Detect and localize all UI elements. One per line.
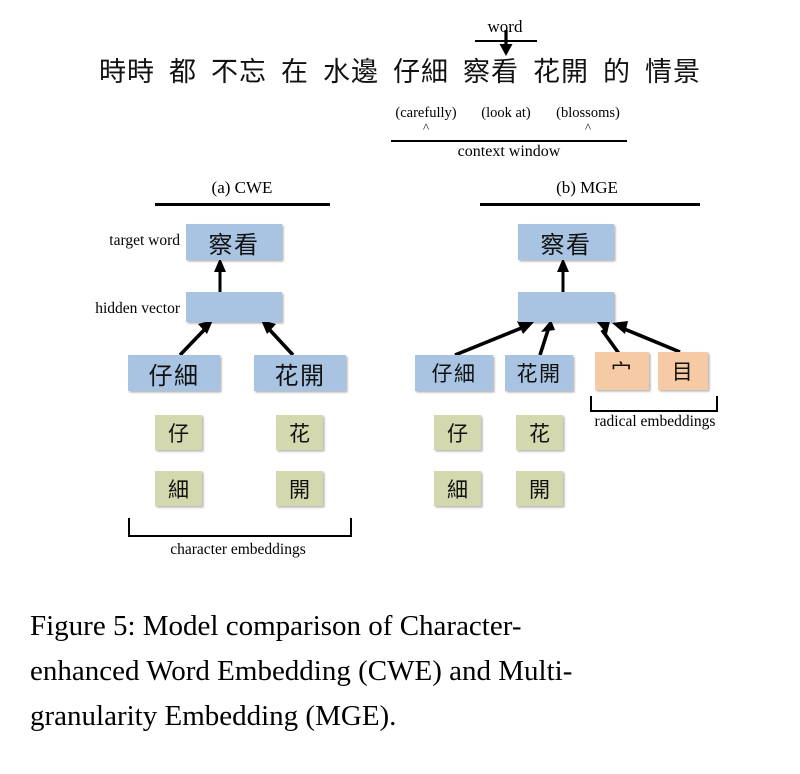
mge-char-box-1b-text: 細: [447, 474, 468, 504]
mge-word-box-1-text: 仔細: [432, 358, 477, 388]
mge-char-box-2b-text: 開: [529, 474, 550, 504]
mge-target-word-text: 察看: [541, 225, 592, 260]
mge-char-box-2a: 花: [516, 415, 563, 450]
mge-word-box-1: 仔細: [415, 355, 493, 391]
figure-caption: Figure 5: Model comparison of Character-…: [30, 604, 772, 739]
caption-line-1: Figure 5: Model comparison of Character-: [30, 604, 772, 649]
mge-char-box-1b: 細: [434, 471, 481, 506]
mge-radical-box-2: 目: [658, 352, 708, 390]
mge-target-word-box: 察看: [518, 224, 614, 260]
mge-radical-bracket: [590, 396, 718, 412]
caption-line-2: enhanced Word Embedding (CWE) and Multi-: [30, 649, 772, 694]
figure-page: word 時時都不忘在水邊仔細察看花開的情景 (carefully) (look…: [0, 0, 800, 774]
caption-line-3: granularity Embedding (MGE).: [30, 694, 772, 739]
mge-char-box-2a-text: 花: [529, 418, 550, 448]
mge-radical-bracket-label: radical embeddings: [570, 413, 740, 431]
mge-radical-box-1: 宀: [595, 352, 649, 390]
mge-radical-box-2-text: 目: [672, 356, 695, 386]
mge-hidden-vector-box: [518, 292, 614, 322]
mge-word-box-2-text: 花開: [517, 358, 562, 388]
mge-char-box-1a: 仔: [434, 415, 481, 450]
mge-radical-box-1-text: 宀: [611, 356, 634, 386]
mge-word-box-2: 花開: [505, 355, 573, 391]
mge-char-box-1a-text: 仔: [447, 418, 468, 448]
mge-char-box-2b: 開: [516, 471, 563, 506]
